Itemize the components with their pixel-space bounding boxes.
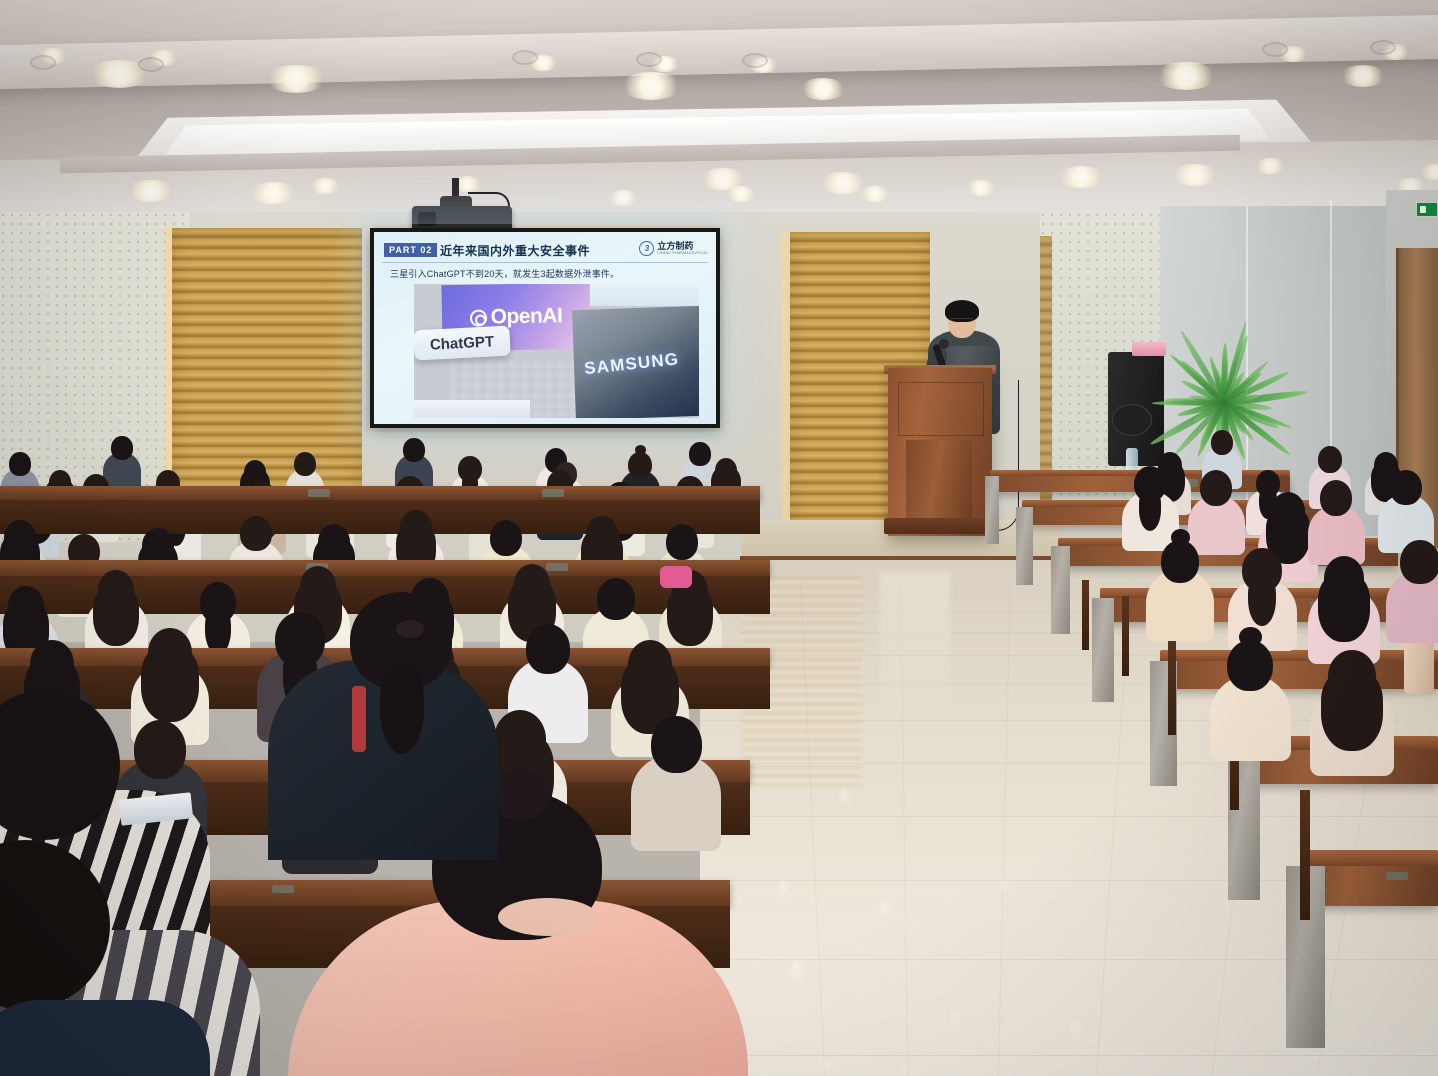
- ceiling-spotlight: [265, 65, 327, 93]
- ceiling-spotlight: [860, 186, 890, 202]
- audience-hair-bun: [1171, 529, 1190, 546]
- audience-long-hair: [667, 585, 713, 646]
- lectern-column: [906, 440, 972, 522]
- desk-end-panel: [985, 476, 999, 544]
- audience-head: [628, 452, 651, 478]
- desk-clip: [542, 489, 564, 497]
- ceiling-spotlight: [1058, 166, 1104, 188]
- collage-white-block-left: [414, 400, 530, 418]
- audience-head: [1211, 430, 1233, 455]
- bench-desk: [1160, 661, 1438, 689]
- eyeglasses-icon: [951, 318, 973, 323]
- collage-white-block-top: [590, 284, 699, 306]
- light-reflection: [1070, 1020, 1080, 1042]
- light-reflection: [880, 900, 889, 920]
- audience-head: [597, 578, 634, 620]
- ceiling-light-fixture: [1262, 42, 1288, 57]
- audience-long-hair: [1321, 670, 1383, 751]
- pa-speaker-cone-icon: [1112, 404, 1152, 436]
- ceiling-spotlight: [310, 178, 340, 194]
- audience-long-hair: [93, 585, 139, 646]
- audience-head: [403, 438, 424, 462]
- chatgpt-button-photo: ChatGPT: [414, 326, 511, 361]
- slide-image-collage: OpenAI SAMSUNG ChatGPT: [414, 284, 699, 418]
- chair-leg: [1082, 580, 1089, 650]
- audience-head: [1318, 446, 1342, 473]
- projection-screen: PART 02 近年来国内外重大安全事件 3 立方制药 LIFANG PHARM…: [374, 232, 716, 424]
- audience-head: [1390, 470, 1421, 505]
- ceiling-light-fixture: [742, 53, 768, 68]
- ceiling-light-fixture: [512, 50, 538, 65]
- ceiling-spotlight: [1155, 62, 1217, 90]
- ceiling-spotlight: [128, 180, 174, 202]
- ceiling-spotlight: [1172, 164, 1218, 186]
- red-lanyard: [352, 686, 366, 752]
- chair-leg: [1168, 640, 1176, 735]
- microphone-head-icon: [939, 339, 949, 349]
- openai-glyph-icon: [470, 309, 487, 326]
- light-reflection: [840, 790, 849, 806]
- audience-long-hair: [1318, 573, 1371, 643]
- audience-head: [9, 452, 30, 476]
- audience-head: [1320, 480, 1352, 516]
- slide-logo: 3 立方制药 LIFANG PHARMACEUTICAL: [639, 241, 708, 256]
- slide-part-tag: PART 02: [384, 243, 437, 257]
- emergency-exit-sign: [1416, 202, 1438, 217]
- audience-head: [526, 624, 571, 674]
- ceiling-light-fixture: [138, 57, 164, 72]
- slide-divider: [382, 262, 708, 263]
- audience-long-hair: [141, 646, 198, 721]
- ceiling-spotlight: [608, 190, 638, 206]
- ceiling-spotlight: [620, 72, 682, 100]
- ceiling-spotlight: [1255, 158, 1285, 174]
- light-reflection: [880, 572, 950, 722]
- hair-clip: [396, 620, 424, 638]
- ceiling-light-fixture: [30, 55, 56, 70]
- ceiling-spotlight: [820, 172, 866, 194]
- desk-clip: [272, 885, 294, 893]
- foreground-neck: [498, 898, 598, 936]
- ceiling-spotlight: [250, 182, 296, 204]
- bench-desk: [0, 486, 760, 500]
- desk-clip: [546, 563, 568, 571]
- audience-head: [294, 452, 316, 476]
- logo-company-name: 立方制药: [657, 242, 708, 251]
- desk-end-panel: [1051, 546, 1070, 634]
- audience-head: [240, 516, 271, 551]
- chair-leg: [1300, 790, 1310, 920]
- pink-hair-bow: [660, 566, 692, 588]
- slide-subtitle: 三星引入ChatGPT不到20天，就发生3起数据外泄事件。: [390, 267, 619, 280]
- ceiling-light-fixture: [1370, 40, 1396, 55]
- chatgpt-wordmark: ChatGPT: [430, 333, 495, 353]
- audience-head: [111, 436, 132, 460]
- audience-head: [1400, 540, 1438, 584]
- lectern-base: [884, 518, 996, 534]
- conference-hall-photo: PART 02 近年来国内外重大安全事件 3 立方制药 LIFANG PHARM…: [0, 0, 1438, 1076]
- audience-hair-bun: [1239, 627, 1262, 647]
- audience-head: [490, 520, 522, 556]
- audience-ponytail: [1139, 487, 1162, 531]
- samsung-wordmark: SAMSUNG: [583, 349, 680, 379]
- ceiling-spotlight: [800, 78, 846, 100]
- desk-end-panel: [1092, 598, 1114, 702]
- slide-heading: 近年来国内外重大安全事件: [440, 242, 590, 259]
- light-reflection: [900, 1062, 910, 1076]
- audience-head: [134, 720, 187, 779]
- chair-leg: [1122, 596, 1129, 676]
- logo-company-sub: LIFANG PHARMACEUTICAL: [657, 251, 708, 255]
- ceiling-spotlight: [1340, 65, 1386, 87]
- desk-clip: [1386, 872, 1408, 880]
- lectern-front-panel: [898, 382, 984, 436]
- desk-end-panel: [1016, 507, 1033, 585]
- light-reflection: [790, 960, 803, 990]
- audience-head: [1227, 640, 1273, 691]
- light-reflection: [1000, 880, 1008, 894]
- audience-head: [651, 716, 702, 773]
- light-reflection: [820, 1060, 832, 1076]
- samsung-sign-photo: SAMSUNG: [572, 306, 699, 418]
- mid-person-ponytail: [380, 664, 424, 754]
- desk-clip: [308, 489, 330, 497]
- ceiling-spotlight: [726, 186, 756, 202]
- ceiling-light-fixture: [636, 52, 662, 67]
- light-reflection: [778, 880, 788, 902]
- light-reflection: [950, 1010, 960, 1032]
- logo-circle-3-icon: 3: [639, 241, 654, 256]
- audience-head: [1161, 540, 1199, 583]
- bench-front-face: [0, 500, 760, 534]
- audience-head: [689, 442, 710, 466]
- audience-head: [666, 524, 698, 560]
- audience-head: [1200, 470, 1232, 506]
- projector-lens-icon: [418, 212, 436, 226]
- tile-seam: [683, 720, 1398, 721]
- foreground-person-navy: [0, 1000, 210, 1076]
- audience-ponytail: [1248, 573, 1276, 626]
- ceiling-spotlight: [966, 180, 996, 196]
